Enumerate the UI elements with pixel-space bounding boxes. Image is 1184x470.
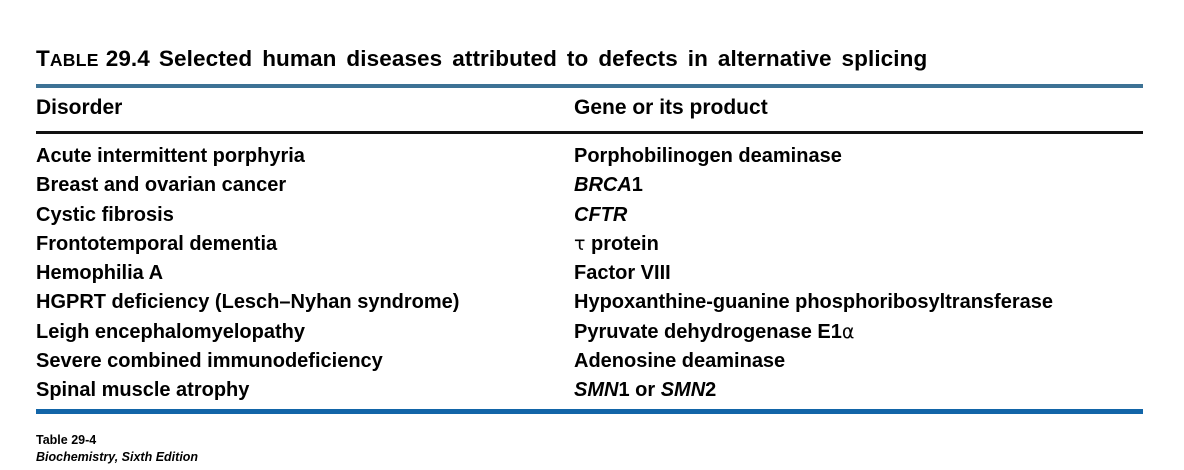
table-body: Acute intermittent porphyriaPorphobilino… bbox=[36, 144, 1143, 408]
table-row: Hemophilia AFactor VIII bbox=[36, 261, 1143, 290]
cell-gene: Factor VIII bbox=[574, 261, 671, 286]
rule-top bbox=[36, 84, 1143, 88]
table-row: Frontotemporal dementiaτ protein bbox=[36, 232, 1143, 261]
cell-disorder: HGPRT deficiency (Lesch–Nyhan syndrome) bbox=[36, 290, 459, 315]
cell-disorder: Breast and ovarian cancer bbox=[36, 173, 286, 198]
cell-disorder: Frontotemporal dementia bbox=[36, 232, 277, 257]
rule-header bbox=[36, 131, 1143, 134]
table-row: Severe combined immunodeficiencyAdenosin… bbox=[36, 349, 1143, 378]
cell-gene: Adenosine deaminase bbox=[574, 349, 785, 374]
table-row: Leigh encephalomyelopathyPyruvate dehydr… bbox=[36, 320, 1143, 349]
cell-gene: BRCA1 bbox=[574, 173, 643, 198]
table-title-label-smallcaps: ABLE bbox=[50, 50, 99, 70]
table-row: Cystic fibrosisCFTR bbox=[36, 203, 1143, 232]
column-header-gene: Gene or its product bbox=[574, 96, 768, 120]
rule-bottom bbox=[36, 409, 1143, 414]
cell-disorder: Spinal muscle atrophy bbox=[36, 378, 249, 403]
table-title-label: TABLE bbox=[36, 46, 99, 71]
table-title-label-initial: T bbox=[36, 46, 50, 71]
cell-gene: Pyruvate dehydrogenase E1α bbox=[574, 320, 854, 345]
cell-gene: CFTR bbox=[574, 203, 627, 228]
cell-disorder: Severe combined immunodeficiency bbox=[36, 349, 383, 374]
table-figure: TABLE29.4Selected human diseases attribu… bbox=[0, 0, 1184, 470]
table-row: Breast and ovarian cancerBRCA1 bbox=[36, 173, 1143, 202]
caption-source: Biochemistry, Sixth Edition bbox=[36, 449, 198, 466]
table-row: Spinal muscle atrophySMN1 or SMN2 bbox=[36, 378, 1143, 407]
table-title: TABLE29.4Selected human diseases attribu… bbox=[36, 44, 1143, 75]
figure-caption: Table 29-4 Biochemistry, Sixth Edition bbox=[36, 432, 198, 465]
column-header-disorder: Disorder bbox=[36, 96, 122, 120]
cell-gene: Hypoxanthine-guanine phosphoribosyltrans… bbox=[574, 290, 1053, 315]
cell-disorder: Hemophilia A bbox=[36, 261, 163, 286]
column-header-row: Disorder Gene or its product bbox=[36, 96, 1143, 126]
cell-disorder: Leigh encephalomyelopathy bbox=[36, 320, 305, 345]
table-row: Acute intermittent porphyriaPorphobilino… bbox=[36, 144, 1143, 173]
caption-table-number: Table 29-4 bbox=[36, 432, 198, 449]
table-title-text: Selected human diseases attributed to de… bbox=[159, 46, 927, 71]
cell-disorder: Acute intermittent porphyria bbox=[36, 144, 305, 169]
table-title-number: 29.4 bbox=[106, 46, 150, 71]
cell-disorder: Cystic fibrosis bbox=[36, 203, 174, 228]
cell-gene: SMN1 or SMN2 bbox=[574, 378, 716, 403]
cell-gene: Porphobilinogen deaminase bbox=[574, 144, 842, 169]
table-row: HGPRT deficiency (Lesch–Nyhan syndrome)H… bbox=[36, 290, 1143, 319]
cell-gene: τ protein bbox=[574, 232, 659, 257]
